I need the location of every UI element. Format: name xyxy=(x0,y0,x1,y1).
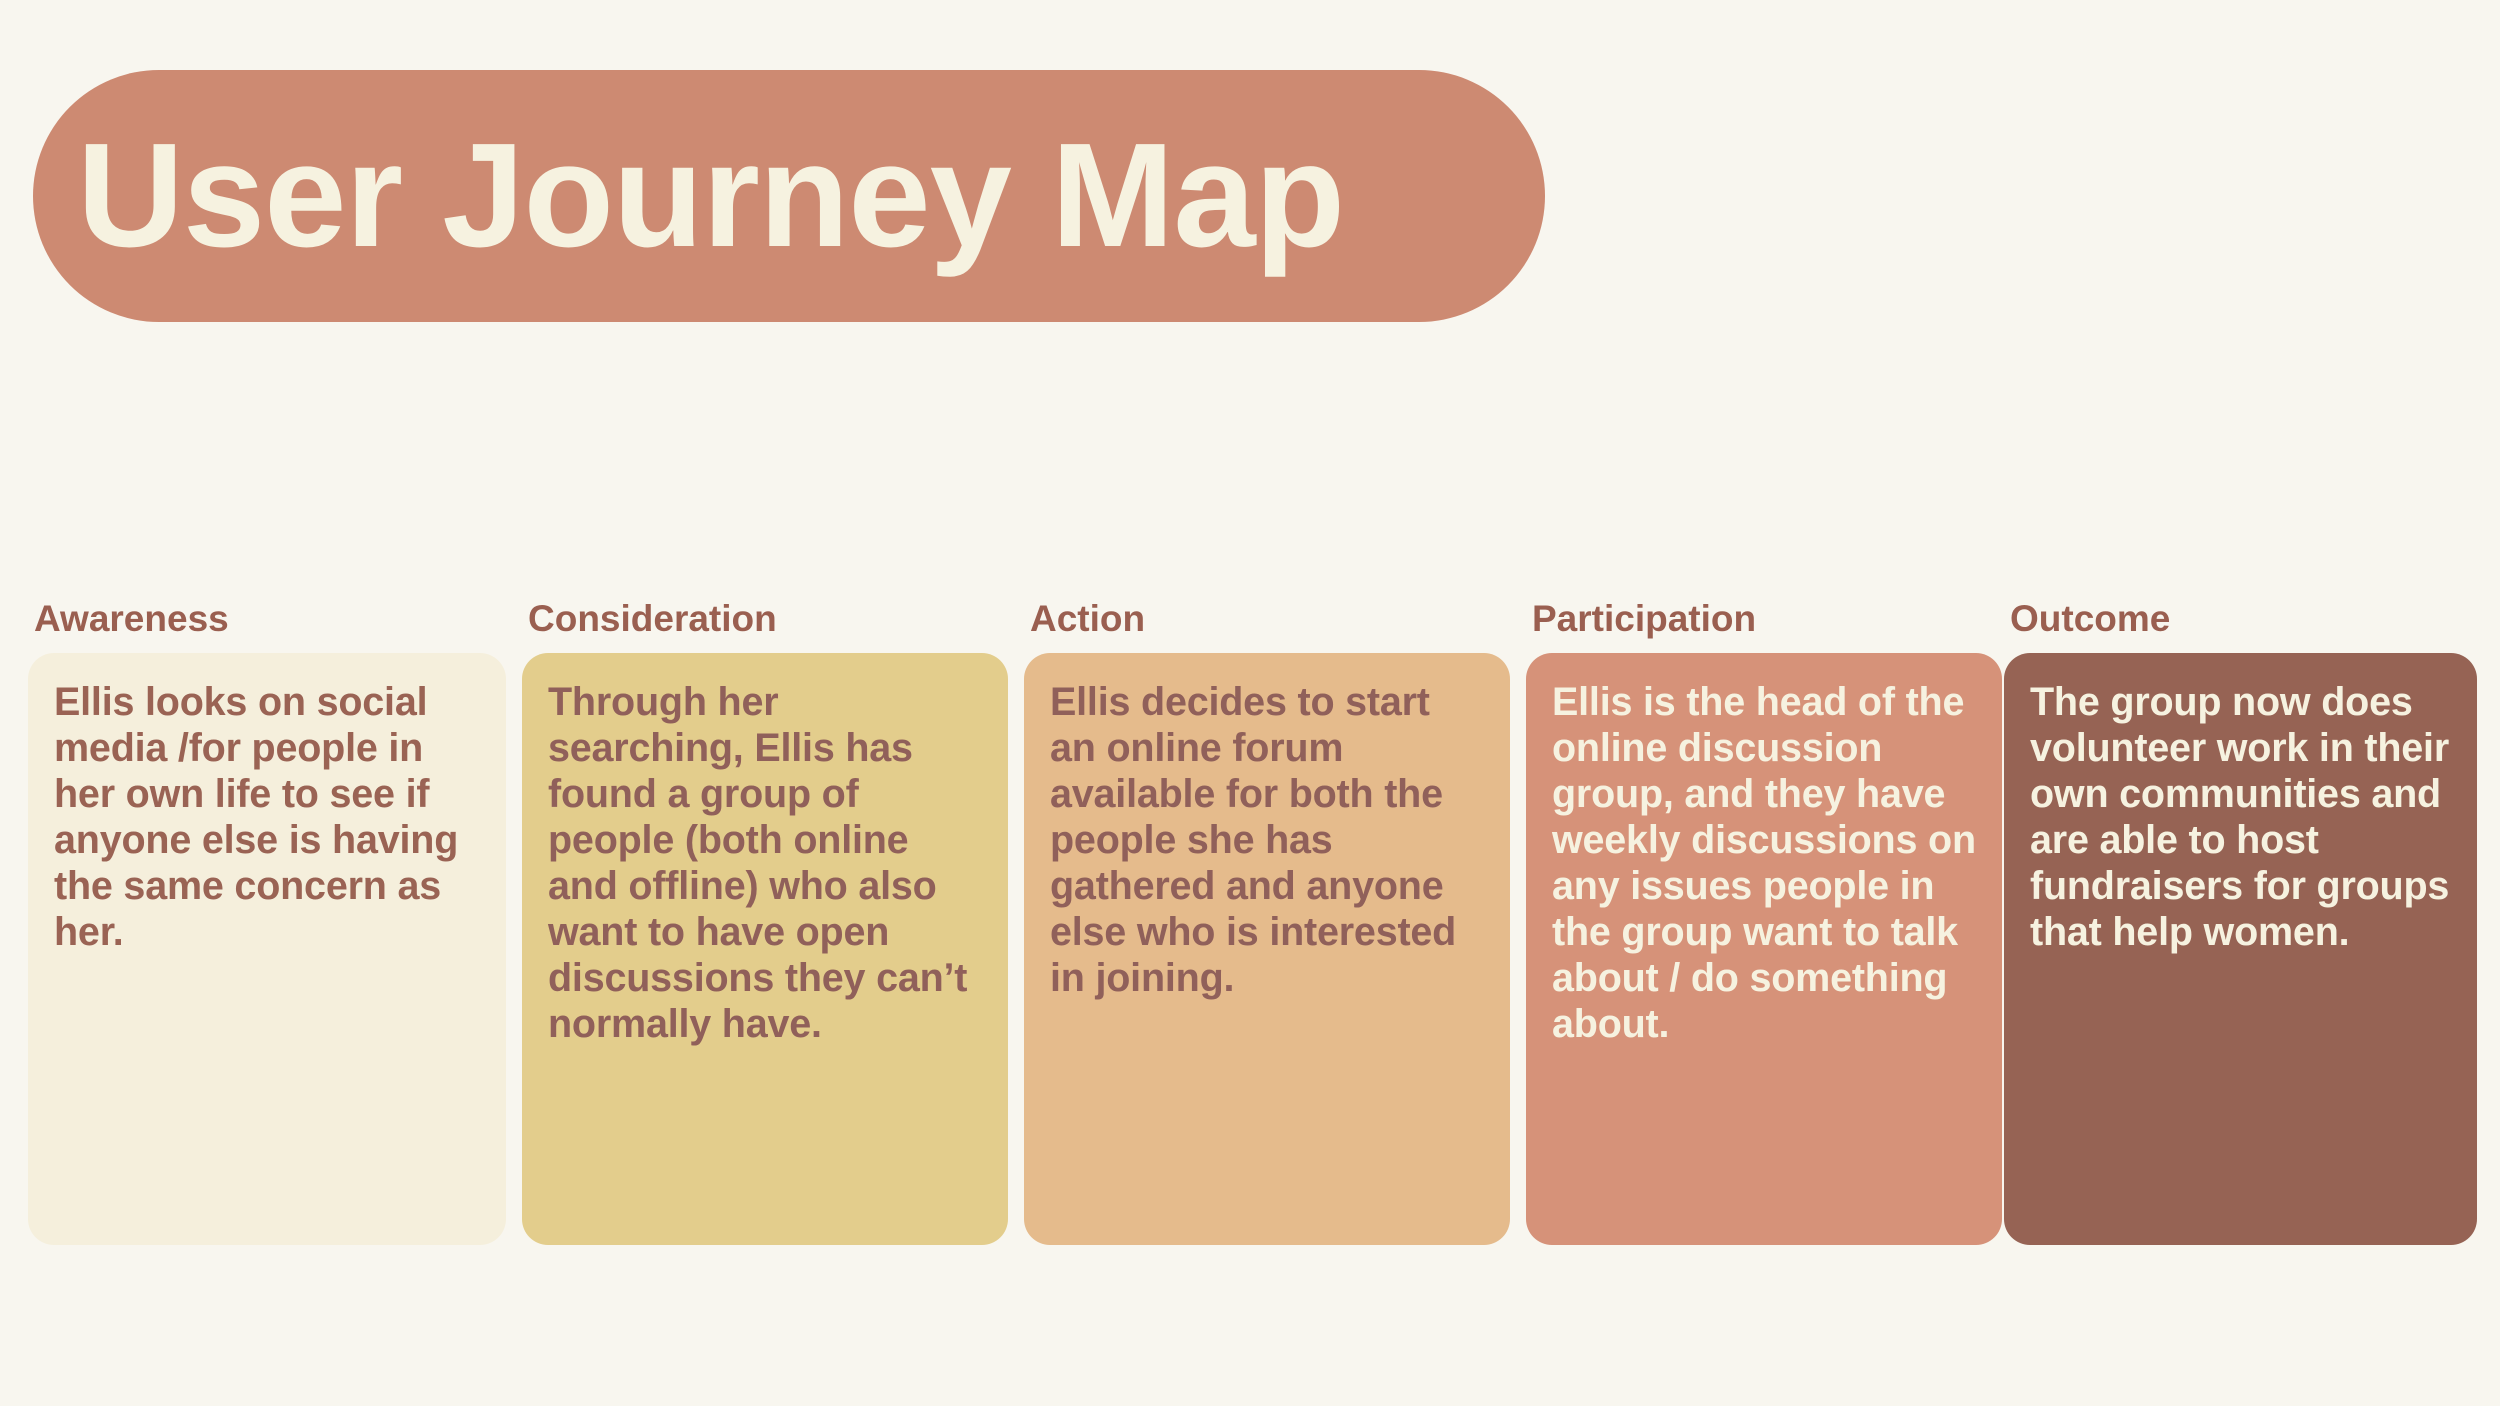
stage-card-outcome[interactable]: The group now does volunteer work in the… xyxy=(2004,653,2477,1245)
stage-label-awareness: Awareness xyxy=(28,600,506,653)
journey-stage-outcome[interactable]: Outcome The group now does volunteer wor… xyxy=(2004,600,2477,1245)
stage-body-awareness: Ellis looks on social media /for people … xyxy=(54,679,480,955)
journey-stage-action[interactable]: Action Ellis decides to start an online … xyxy=(1024,600,1510,1245)
stage-card-participation[interactable]: Ellis is the head of the online discussi… xyxy=(1526,653,2002,1245)
stage-card-action[interactable]: Ellis decides to start an online forum a… xyxy=(1024,653,1510,1245)
page-title-banner: User Journey Map xyxy=(33,70,1545,322)
stage-body-consideration: Through her searching, Ellis has found a… xyxy=(548,679,982,1047)
journey-stage-participation[interactable]: Participation Ellis is the head of the o… xyxy=(1526,600,2002,1245)
stage-body-action: Ellis decides to start an online forum a… xyxy=(1050,679,1484,1001)
stage-body-outcome: The group now does volunteer work in the… xyxy=(2030,679,2451,955)
journey-stage-awareness[interactable]: Awareness Ellis looks on social media /f… xyxy=(28,600,506,1245)
stage-card-consideration[interactable]: Through her searching, Ellis has found a… xyxy=(522,653,1008,1245)
stage-label-outcome: Outcome xyxy=(2004,600,2477,653)
stage-label-action: Action xyxy=(1024,600,1510,653)
journey-stage-consideration[interactable]: Consideration Through her searching, Ell… xyxy=(522,600,1008,1245)
stage-label-participation: Participation xyxy=(1526,600,2002,653)
journey-map-canvas: User Journey Map Awareness Ellis looks o… xyxy=(0,0,2500,1406)
journey-stage-row: Awareness Ellis looks on social media /f… xyxy=(28,600,2477,1245)
stage-card-awareness[interactable]: Ellis looks on social media /for people … xyxy=(28,653,506,1245)
page-title: User Journey Map xyxy=(77,121,1344,272)
stage-body-participation: Ellis is the head of the online discussi… xyxy=(1552,679,1976,1047)
stage-label-consideration: Consideration xyxy=(522,600,1008,653)
